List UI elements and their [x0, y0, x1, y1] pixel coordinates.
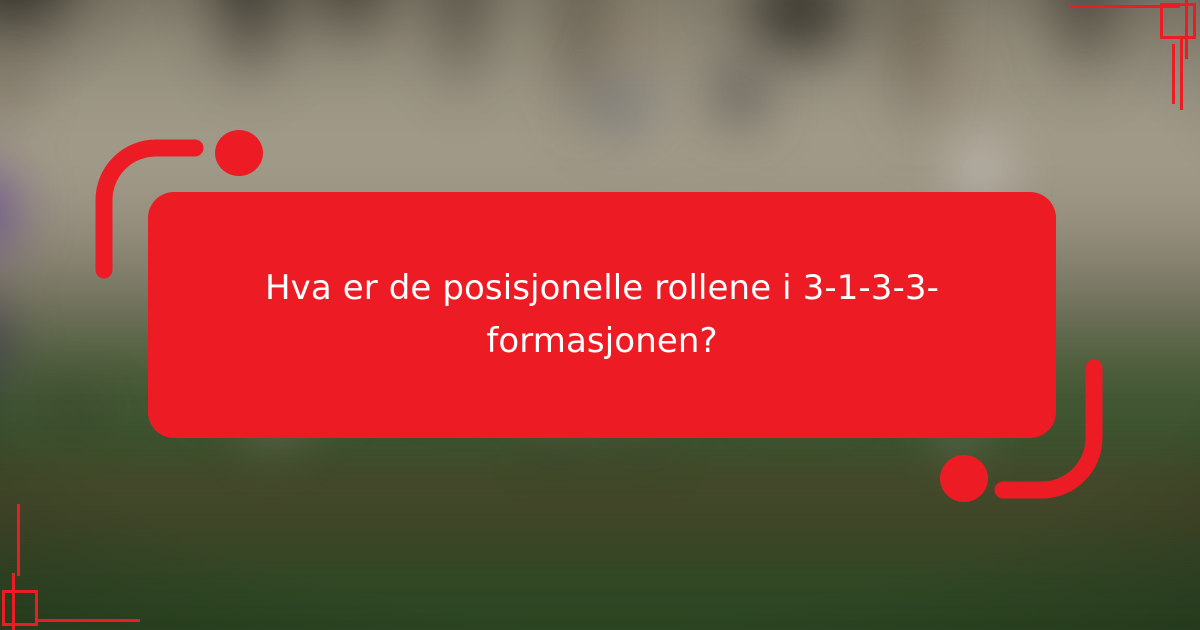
corner-square-icon — [2, 590, 38, 626]
corner-square-icon — [1160, 3, 1196, 39]
frame-vertical-line — [1180, 36, 1183, 110]
corner-frame-top-right — [1040, 0, 1200, 120]
question-card: Hva er de posisjonelle rollene i 3-1-3-3… — [148, 192, 1056, 438]
question-title: Hva er de posisjonelle rollene i 3-1-3-3… — [202, 262, 1002, 367]
corner-frame-bottom-left — [0, 500, 200, 630]
frame-vertical-line-inner — [1172, 44, 1175, 104]
frame-vertical-line — [17, 504, 20, 576]
decorative-dot-bottom-icon — [940, 455, 988, 502]
social-card-canvas: Hva er de posisjonelle rollene i 3-1-3-3… — [0, 0, 1200, 630]
decorative-dot-top-icon — [215, 130, 263, 176]
frame-inner-line — [36, 619, 140, 622]
